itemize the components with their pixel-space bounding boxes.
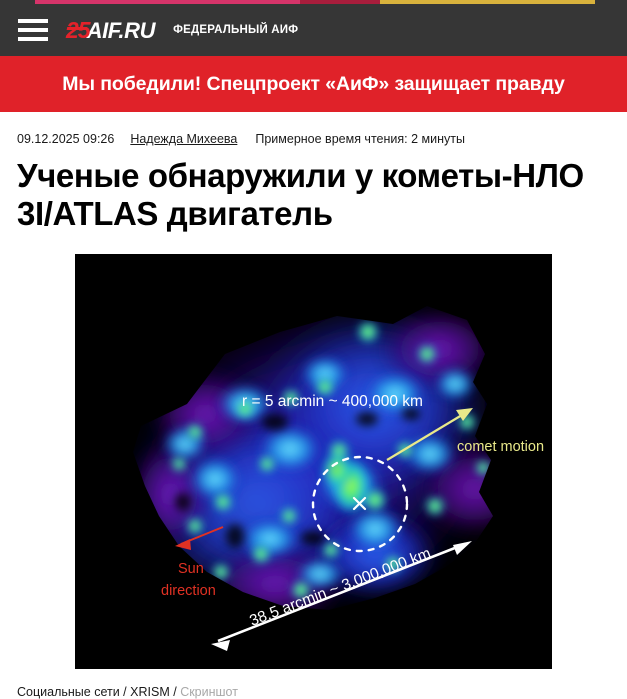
promo-banner-text: Мы победили! Спецпроект «АиФ» защищает п… [62, 73, 565, 96]
caption-type: Скриншот [180, 685, 238, 699]
sun-direction-label-line1: Sun [178, 561, 204, 577]
site-header: 25 AIF.RU ФЕДЕРАЛЬНЫЙ АИФ [0, 4, 627, 56]
comet-motion-label: comet motion [457, 439, 544, 455]
promo-banner[interactable]: Мы победили! Спецпроект «АиФ» защищает п… [0, 56, 627, 112]
caption-source: Социальные сети [17, 685, 120, 699]
hamburger-bar-2 [18, 28, 48, 32]
edition-label[interactable]: ФЕДЕРАЛЬНЫЙ АИФ [173, 24, 298, 36]
hamburger-bar-3 [18, 37, 48, 41]
author-link[interactable]: Надежда Михеева [130, 132, 237, 146]
logo-anniversary-mark: 25 [66, 19, 90, 42]
xray-heatmap-image[interactable]: r = 5 arcmin ~ 400,000 km comet motion S… [75, 254, 552, 669]
article-figure: r = 5 arcmin ~ 400,000 km comet motion S… [0, 254, 627, 699]
radius-annotation: r = 5 arcmin ~ 400,000 km [242, 393, 423, 410]
hamburger-bar-1 [18, 19, 48, 23]
publish-date: 09.12.2025 09:26 [17, 132, 114, 146]
article-meta: 09.12.2025 09:26 Надежда Михеева Примерн… [0, 112, 627, 146]
xray-heatmap-canvas: r = 5 arcmin ~ 400,000 km comet motion S… [75, 254, 552, 669]
hamburger-menu-icon[interactable] [18, 19, 48, 41]
reading-time: Примерное время чтения: 2 минуты [255, 132, 465, 146]
figure-caption: Социальные сети / XRISM / Скриншот [17, 685, 627, 699]
page-title: Ученые обнаружили у кометы-НЛО 3I/ATLAS … [17, 157, 613, 234]
caption-separator-2: / [173, 685, 176, 699]
article-page: 25 AIF.RU ФЕДЕРАЛЬНЫЙ АИФ Мы победили! С… [0, 0, 627, 699]
caption-credit: XRISM [130, 685, 170, 699]
logo-wordmark: AIF.RU [87, 20, 156, 42]
sun-direction-label-line2: direction [161, 583, 216, 599]
site-logo[interactable]: 25 AIF.RU [66, 19, 155, 42]
caption-separator-1: / [123, 685, 126, 699]
